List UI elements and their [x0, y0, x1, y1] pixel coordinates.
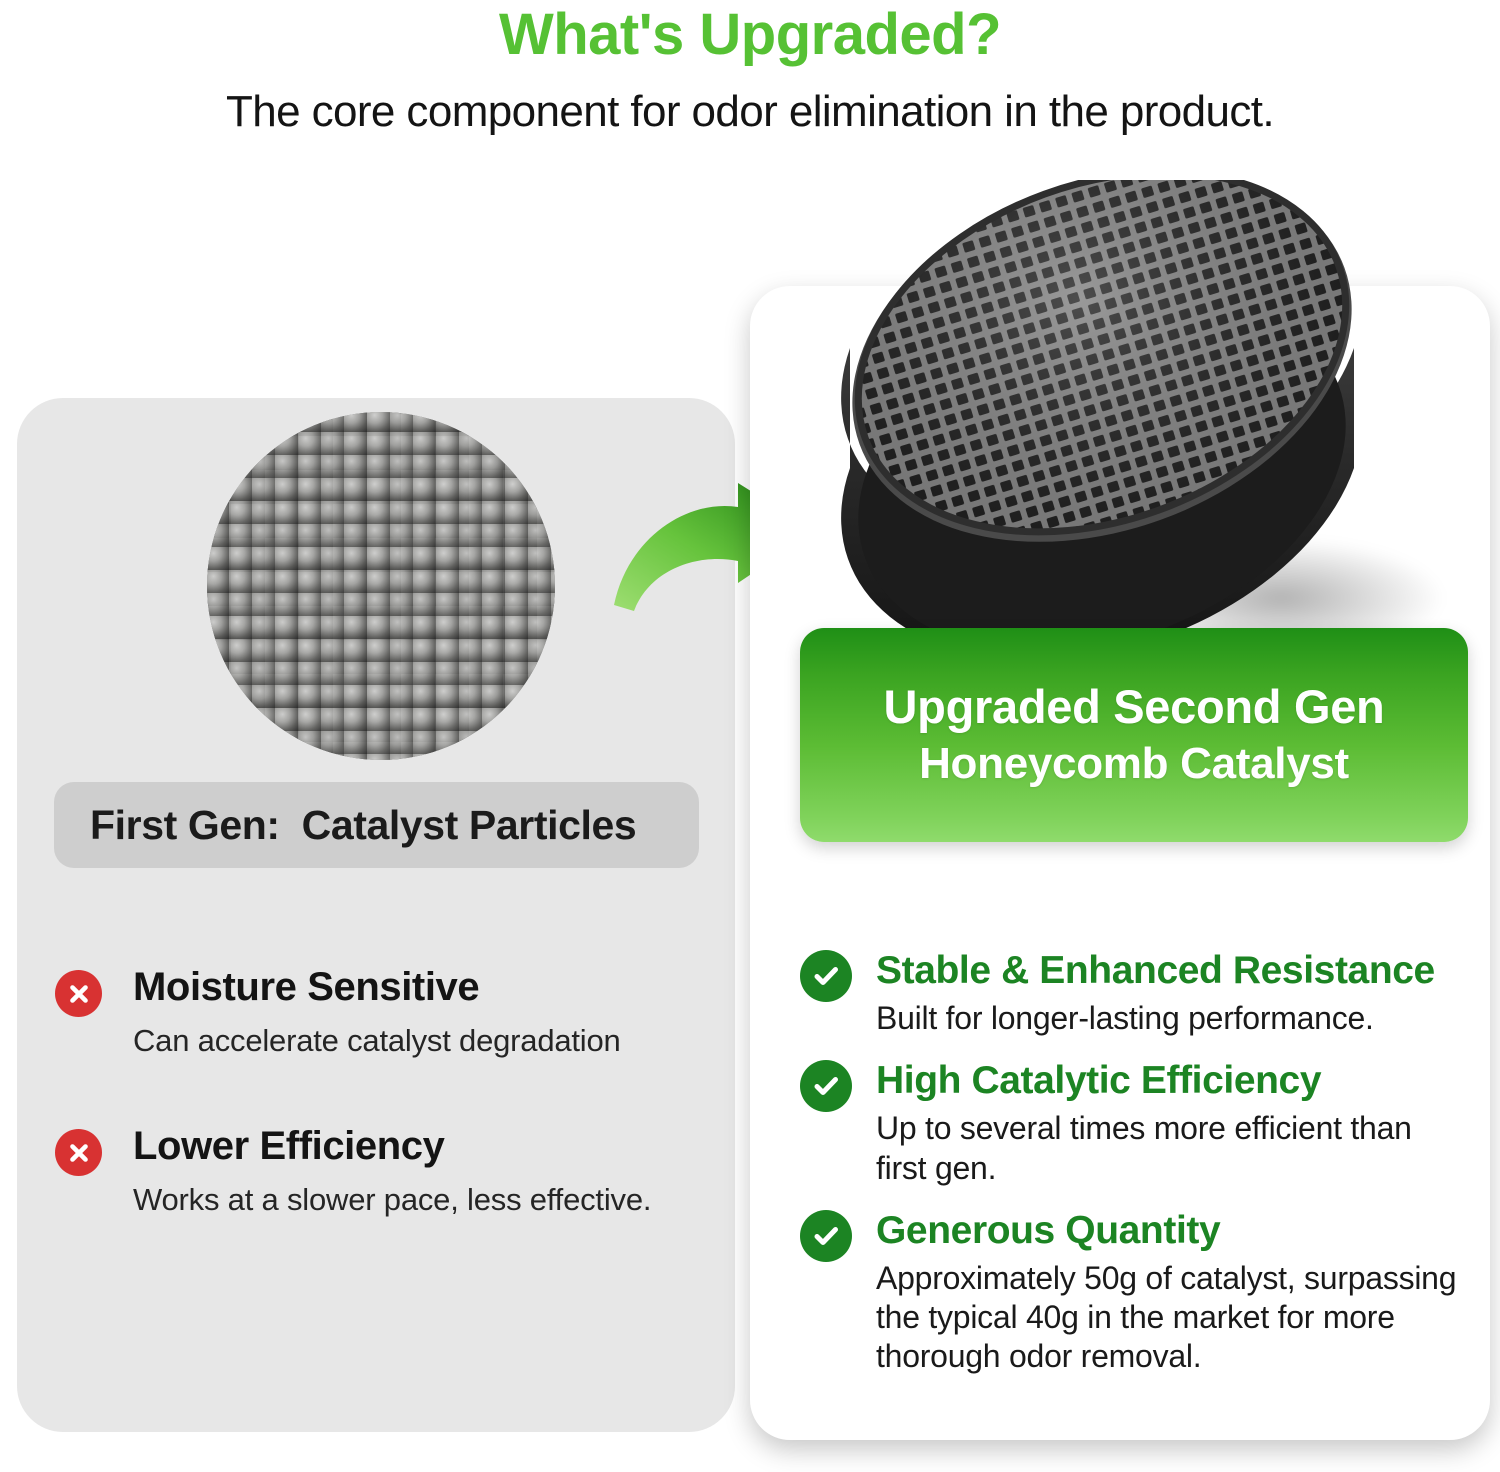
list-item: Generous Quantity Approximately 50g of c…	[800, 1210, 1470, 1377]
list-item: Moisture Sensitive Can accelerate cataly…	[55, 966, 715, 1059]
benefit-title: Generous Quantity	[876, 1210, 1470, 1253]
x-circle-icon	[55, 1129, 102, 1176]
banner-title-line2: Honeycomb Catalyst	[919, 733, 1349, 790]
check-circle-icon	[800, 1210, 852, 1262]
drawback-desc: Can accelerate catalyst degradation	[133, 1008, 715, 1059]
list-item: High Catalytic Efficiency Up to several …	[800, 1060, 1470, 1188]
check-circle-icon	[800, 950, 852, 1002]
x-circle-icon	[55, 970, 102, 1017]
drawback-title: Moisture Sensitive	[133, 966, 715, 1008]
drawback-desc: Works at a slower pace, less effective.	[133, 1167, 715, 1218]
banner-title-line1: Upgraded Second Gen	[884, 681, 1385, 733]
pellets-texture-overlay	[207, 412, 555, 760]
first-gen-label-text: First Gen: Catalyst Particles	[54, 802, 636, 849]
page-title: What's Upgraded?	[0, 0, 1500, 64]
benefit-desc: Built for longer-lasting performance.	[876, 993, 1470, 1038]
upgraded-banner: Upgraded Second Gen Honeycomb Catalyst	[800, 628, 1468, 842]
honeycomb-catalyst-image	[816, 168, 1446, 698]
first-gen-label-pill: First Gen: Catalyst Particles	[54, 782, 699, 868]
drawback-title: Lower Efficiency	[133, 1125, 715, 1167]
second-gen-benefit-list: Stable & Enhanced Resistance Built for l…	[800, 950, 1470, 1377]
benefit-desc: Approximately 50g of catalyst, surpassin…	[876, 1253, 1470, 1377]
list-item: Stable & Enhanced Resistance Built for l…	[800, 950, 1470, 1038]
first-gen-drawback-list: Moisture Sensitive Can accelerate cataly…	[55, 966, 715, 1218]
check-circle-icon	[800, 1060, 852, 1112]
honeycomb-disc-graphic	[834, 180, 1404, 650]
benefit-title: High Catalytic Efficiency	[876, 1060, 1470, 1103]
benefit-desc: Up to several times more efficient than …	[876, 1103, 1470, 1188]
catalyst-particles-image	[207, 412, 555, 760]
page-header: What's Upgraded? The core component for …	[0, 0, 1500, 134]
page-subtitle: The core component for odor elimination …	[0, 64, 1500, 134]
benefit-title: Stable & Enhanced Resistance	[876, 950, 1470, 993]
list-item: Lower Efficiency Works at a slower pace,…	[55, 1125, 715, 1218]
